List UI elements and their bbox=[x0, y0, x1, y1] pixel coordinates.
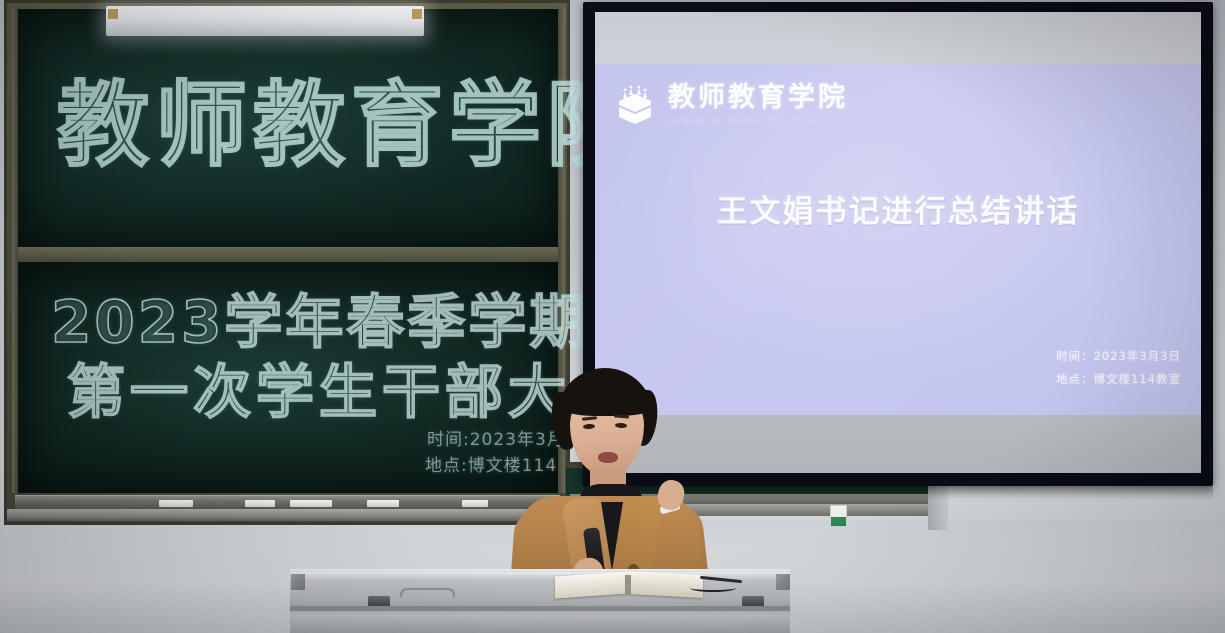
blackboard-frame-left bbox=[12, 7, 18, 493]
chalk-box bbox=[830, 505, 847, 527]
chalk-piece bbox=[462, 500, 488, 507]
slide-meta-place: 地点：博文楼114教室 bbox=[1056, 371, 1181, 387]
slide-meta-time: 时间：2023年3月3日 bbox=[1056, 348, 1181, 364]
chalk-piece bbox=[159, 500, 193, 507]
chalk-tray-lip bbox=[7, 509, 573, 521]
book-page-left bbox=[555, 571, 629, 598]
podium-desk bbox=[290, 572, 790, 633]
chalk-piece bbox=[245, 500, 275, 507]
classroom-photo-scene: 教师教育学院 2023学年春季学期 第一次学生干部大会 时间:2023年3月3日… bbox=[0, 0, 1225, 633]
speaker-person bbox=[490, 368, 720, 598]
open-book bbox=[555, 570, 703, 596]
blackboard: 教师教育学院 2023学年春季学期 第一次学生干部大会 时间:2023年3月3日… bbox=[4, 0, 570, 525]
podium-corner-left bbox=[291, 574, 305, 590]
chalk-piece bbox=[290, 500, 332, 507]
shield-book-logo-icon bbox=[612, 81, 658, 127]
projected-slide: 教师教育学院 College of Teacher Education 王文娟书… bbox=[595, 64, 1201, 415]
projection-screen-top-band bbox=[595, 12, 1201, 64]
podium-rail bbox=[290, 606, 790, 611]
eye-right bbox=[615, 423, 627, 429]
podium-handle bbox=[400, 588, 455, 597]
blackboard-divider bbox=[12, 247, 564, 262]
slide-logo-chinese: 教师教育学院 bbox=[668, 84, 848, 111]
chalk-piece bbox=[367, 500, 399, 507]
book-spine bbox=[625, 575, 631, 595]
fluorescent-lamp-icon bbox=[106, 6, 424, 36]
slide-logo: 教师教育学院 College of Teacher Education bbox=[612, 81, 848, 127]
blackboard-headline: 教师教育学院 bbox=[57, 51, 645, 184]
mouth bbox=[598, 452, 618, 463]
podium-corner-right bbox=[776, 574, 790, 590]
slide-title: 王文娟书记进行总结讲话 bbox=[595, 186, 1201, 231]
microphone-cable bbox=[690, 584, 736, 592]
slide-logo-english: College of Teacher Education bbox=[668, 115, 848, 125]
